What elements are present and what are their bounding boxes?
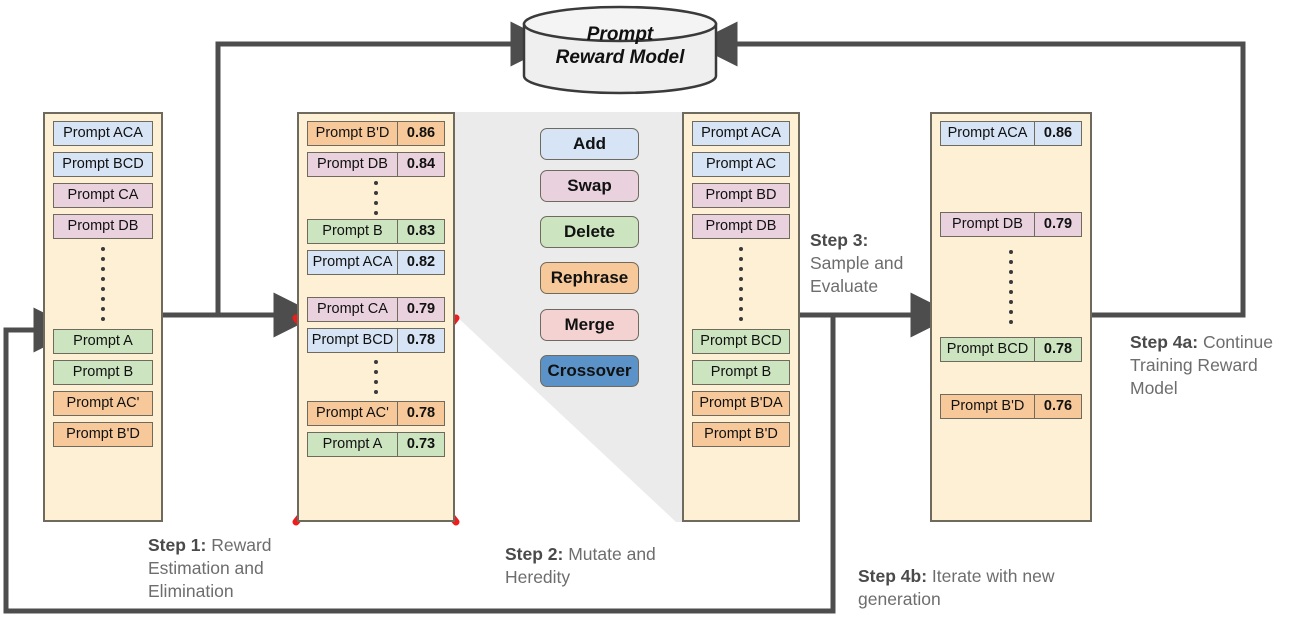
prompt-label: Prompt B'DA	[693, 396, 789, 411]
list-item[interactable]: Prompt BD	[692, 183, 790, 208]
reward-score: 0.84	[397, 153, 444, 176]
operation-add[interactable]: Add	[540, 128, 639, 160]
list-item[interactable]: Prompt BCD	[692, 329, 790, 354]
prompt-label: Prompt ACA	[308, 255, 397, 270]
prompt-label: Prompt CA	[308, 302, 397, 317]
prompt-label: Prompt DB	[54, 219, 152, 234]
reward-score: 0.78	[1034, 338, 1081, 361]
list-item-eliminated[interactable]: Prompt CA 0.79	[307, 297, 445, 322]
reward-model-line-2: Reward Model	[526, 47, 714, 70]
caption-step-4b: Step 4b: Iterate with new generation	[858, 565, 1078, 611]
list-item[interactable]: Prompt DB 0.79	[940, 212, 1082, 237]
prompt-reward-model-label: Prompt Reward Model	[526, 24, 714, 70]
prompt-label: Prompt AC	[693, 157, 789, 172]
list-item[interactable]: Prompt AC'	[53, 391, 153, 416]
prompt-label: Prompt B'D	[693, 427, 789, 442]
list-item[interactable]: Prompt ACA 0.86	[940, 121, 1082, 146]
caption-step-3: Step 3: Sample and Evaluate	[810, 229, 925, 298]
prompt-label: Prompt AC'	[54, 396, 152, 411]
step-4b-bold: Step 4b:	[858, 566, 927, 586]
prompt-label: Prompt B	[693, 365, 789, 380]
list-item[interactable]: Prompt B'D 0.76	[940, 394, 1082, 419]
list-item[interactable]: Prompt ACA	[692, 121, 790, 146]
prompt-label: Prompt BD	[693, 188, 789, 203]
prompt-label: Prompt BCD	[693, 334, 789, 349]
operation-crossover[interactable]: Crossover	[540, 355, 639, 387]
operation-label: Add	[573, 134, 606, 154]
prompt-label: Prompt BCD	[941, 342, 1034, 357]
reward-score: 0.86	[397, 122, 444, 145]
list-item[interactable]: Prompt BCD 0.78	[940, 337, 1082, 362]
list-item[interactable]: Prompt ACA	[53, 121, 153, 146]
step-3-bold: Step 3:	[810, 230, 868, 250]
operation-merge[interactable]: Merge	[540, 309, 639, 341]
list-item-eliminated[interactable]: Prompt A 0.73	[307, 432, 445, 457]
column-new-generation: Prompt ACA Prompt AC Prompt BD Prompt DB…	[682, 112, 800, 522]
operation-swap[interactable]: Swap	[540, 170, 639, 202]
list-item[interactable]: Prompt B 0.83	[307, 219, 445, 244]
caption-step-2: Step 2: Mutate and Heredity	[505, 543, 685, 589]
ellipsis-dots	[940, 237, 1082, 337]
prompt-label: Prompt B'D	[308, 126, 397, 141]
list-item-eliminated[interactable]: Prompt BCD 0.78	[307, 328, 445, 353]
list-item[interactable]: Prompt B'DA	[692, 391, 790, 416]
list-item[interactable]: Prompt B'D	[53, 422, 153, 447]
reward-score: 0.86	[1034, 122, 1081, 145]
operation-label: Swap	[567, 176, 611, 196]
prompt-label: Prompt A	[54, 334, 152, 349]
operation-label: Crossover	[547, 361, 631, 381]
list-item[interactable]: Prompt AC	[692, 152, 790, 177]
prompt-label: Prompt BCD	[308, 333, 397, 348]
list-item[interactable]: Prompt DB	[692, 214, 790, 239]
reward-score: 0.82	[397, 251, 444, 274]
reward-score: 0.78	[397, 402, 444, 425]
prompt-label: Prompt ACA	[693, 126, 789, 141]
operation-label: Merge	[564, 315, 614, 335]
reward-score: 0.79	[1034, 213, 1081, 236]
ellipsis-dots	[307, 353, 445, 401]
prompt-label: Prompt DB	[693, 219, 789, 234]
column-scored-population: Prompt B'D 0.86 Prompt DB 0.84 Prompt B …	[297, 112, 455, 522]
reward-score: 0.83	[397, 220, 444, 243]
list-item[interactable]: Prompt B	[692, 360, 790, 385]
list-item[interactable]: Prompt DB	[53, 214, 153, 239]
list-item[interactable]: Prompt BCD	[53, 152, 153, 177]
prompt-label: Prompt B'D	[941, 399, 1034, 414]
column-initial-population: Prompt ACA Prompt BCD Prompt CA Prompt D…	[43, 112, 163, 522]
reward-score: 0.79	[397, 298, 444, 321]
caption-step-4a: Step 4a: Continue Training Reward Model	[1130, 331, 1305, 400]
prompt-label: Prompt DB	[308, 157, 397, 172]
step-3-text: Sample and Evaluate	[810, 253, 903, 296]
ellipsis-dots	[692, 239, 790, 329]
caption-step-1: Step 1: Reward Estimation and Eliminatio…	[148, 534, 328, 603]
diagram-canvas: Prompt Reward Model Prompt ACA Prompt BC…	[0, 0, 1307, 621]
prompt-label: Prompt B	[54, 365, 152, 380]
operation-delete[interactable]: Delete	[540, 216, 639, 248]
list-item[interactable]: Prompt B	[53, 360, 153, 385]
list-item[interactable]: Prompt DB 0.84	[307, 152, 445, 177]
operation-label: Delete	[564, 222, 615, 242]
list-item[interactable]: Prompt CA	[53, 183, 153, 208]
prompt-label: Prompt BCD	[54, 157, 152, 172]
column-evaluated-population: Prompt ACA 0.86 Prompt DB 0.79 Prompt BC…	[930, 112, 1092, 522]
reward-model-line-1: Prompt	[526, 24, 714, 47]
reward-score: 0.76	[1034, 395, 1081, 418]
operation-label: Rephrase	[551, 268, 628, 288]
step-4a-bold: Step 4a:	[1130, 332, 1198, 352]
step-2-bold: Step 2:	[505, 544, 563, 564]
prompt-label: Prompt DB	[941, 217, 1034, 232]
prompt-label: Prompt ACA	[941, 126, 1034, 141]
prompt-label: Prompt ACA	[54, 126, 152, 141]
list-item-eliminated[interactable]: Prompt AC' 0.78	[307, 401, 445, 426]
list-item[interactable]: Prompt ACA 0.82	[307, 250, 445, 275]
prompt-label: Prompt B'D	[54, 427, 152, 442]
step-1-bold: Step 1:	[148, 535, 206, 555]
operation-rephrase[interactable]: Rephrase	[540, 262, 639, 294]
prompt-label: Prompt CA	[54, 188, 152, 203]
list-item[interactable]: Prompt B'D 0.86	[307, 121, 445, 146]
reward-score: 0.73	[397, 433, 444, 456]
connector-layer	[0, 0, 1307, 621]
prompt-label: Prompt B	[308, 224, 397, 239]
prompt-label: Prompt AC'	[308, 406, 397, 421]
ellipsis-dots	[53, 239, 153, 329]
list-item[interactable]: Prompt A	[53, 329, 153, 354]
list-item[interactable]: Prompt B'D	[692, 422, 790, 447]
ellipsis-dots	[307, 177, 445, 219]
prompt-label: Prompt A	[308, 437, 397, 452]
reward-score: 0.78	[397, 329, 444, 352]
